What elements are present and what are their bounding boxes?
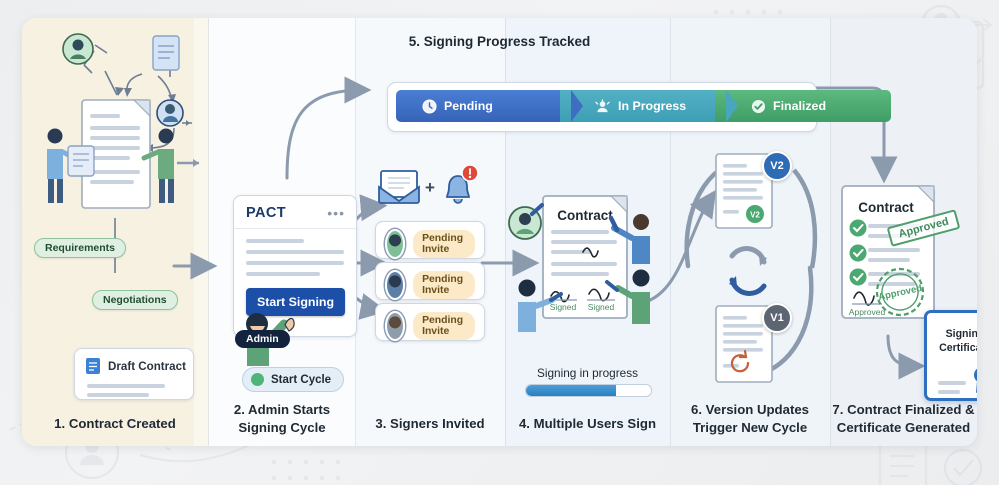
signing-progress-fill xyxy=(526,385,616,396)
placeholder-line xyxy=(246,239,304,243)
signer-row-2[interactable]: Pending Invite xyxy=(375,262,485,300)
placeholder-line xyxy=(246,272,320,276)
pipeline-stage-label: In Progress xyxy=(618,99,686,113)
contract-created-illustration xyxy=(22,18,208,398)
tag-requirements: Requirements xyxy=(34,238,126,258)
placeholder-line xyxy=(87,393,149,397)
step-6-caption: 6. Version Updates Trigger New Cycle xyxy=(670,401,830,438)
avatar xyxy=(385,270,405,300)
version-badge-v2: V2 xyxy=(762,151,792,181)
status-dot-icon xyxy=(251,373,264,386)
admin-label: Admin xyxy=(246,333,279,345)
version-cycle-illustration: V2 xyxy=(670,138,830,398)
people-icon xyxy=(594,99,611,114)
step-2-caption: 2. Admin Starts Signing Cycle xyxy=(209,401,355,438)
placeholder-line xyxy=(938,390,960,394)
approved-check-icon xyxy=(850,220,867,286)
step-7-caption: 7. Contract Finalized & Certificate Gene… xyxy=(830,401,977,438)
invite-icons: + xyxy=(375,163,485,219)
pipeline-stage-label: Finalized xyxy=(773,99,826,113)
signer-row-3[interactable]: Pending Invite xyxy=(375,303,485,341)
caption-line-1: 1. Contract Created xyxy=(54,416,176,431)
pipeline-stage-label: Pending xyxy=(444,99,493,113)
signing-progress-label: Signing in progress xyxy=(505,366,670,380)
tag-label: Requirements xyxy=(45,242,115,254)
caption-line-1: 2. Admin Starts xyxy=(234,402,330,417)
svg-text:Signed: Signed xyxy=(588,302,615,312)
step-1-caption: 1. Contract Created xyxy=(22,415,208,434)
avatar xyxy=(385,229,405,259)
placeholder-line xyxy=(246,261,344,265)
bell-alert-icon xyxy=(447,165,478,203)
avatar xyxy=(385,311,405,341)
svg-text:Signed: Signed xyxy=(550,302,577,312)
envelope-icon xyxy=(379,171,419,203)
step-4-caption: 4. Multiple Users Sign xyxy=(505,415,670,434)
placeholder-line xyxy=(87,384,165,388)
ellipsis-icon[interactable]: ••• xyxy=(327,209,345,217)
certificate-line-2: Certificate xyxy=(939,342,977,354)
caption-line-1: 3. Signers Invited xyxy=(375,416,484,431)
svg-text:V2: V2 xyxy=(750,211,760,220)
version-label: V2 xyxy=(770,160,783,172)
step-3-caption: 3. Signers Invited xyxy=(355,415,505,434)
step-3-signers-invited: + Pending Invite Pending Invite xyxy=(355,18,505,446)
refresh-cycle-icon xyxy=(729,249,767,294)
caption-line-1: 6. Version Updates xyxy=(691,402,809,417)
caption-line-1: 7. Contract Finalized & xyxy=(832,402,974,417)
certificate-line-1: Signing xyxy=(946,328,977,340)
start-cycle-label: Start Cycle xyxy=(271,374,331,386)
status-badge: Pending Invite xyxy=(413,230,475,258)
step-2-admin-starts-signing: PACT ••• Start Signing Admin Start Cycle… xyxy=(209,18,355,446)
signer-row-1[interactable]: Pending Invite xyxy=(375,221,485,259)
caption-line-2: Trigger New Cycle xyxy=(693,420,807,435)
signing-progress-bar xyxy=(525,384,652,397)
clock-icon xyxy=(422,99,437,114)
admin-name-pill: Admin xyxy=(235,330,290,348)
tag-label: Negotiations xyxy=(103,294,167,306)
signing-certificate-card[interactable]: Signing Certificate xyxy=(924,310,977,401)
step-4-multiple-users-sign: Contract Signed Signed xyxy=(505,18,670,446)
document-title: Contract xyxy=(858,200,914,215)
step-7-contract-finalized: Contract Approved Approved xyxy=(830,18,977,446)
status-badge: Pending Invite xyxy=(413,271,475,299)
svg-text:Approved: Approved xyxy=(849,307,886,317)
draft-contract-card[interactable]: Draft Contract xyxy=(74,348,194,400)
step-6-version-updates: V2 V2 xyxy=(670,18,830,446)
tag-negotiations: Negotiations xyxy=(92,290,178,310)
app-title: PACT xyxy=(246,205,286,221)
caption-line-1: 4. Multiple Users Sign xyxy=(519,416,656,431)
placeholder-line xyxy=(938,381,966,385)
caption-line-2: Certificate Generated xyxy=(837,420,970,435)
placeholder-line xyxy=(246,250,344,254)
status-badge: Pending Invite xyxy=(413,312,475,340)
svg-text:+: + xyxy=(425,178,435,197)
ribbon-seal-icon xyxy=(972,366,977,394)
version-label: V1 xyxy=(770,312,783,324)
version-badge-v1: V1 xyxy=(762,303,792,333)
document-icon xyxy=(85,357,101,375)
start-cycle-status-pill[interactable]: Start Cycle xyxy=(242,367,344,392)
draft-contract-label: Draft Contract xyxy=(108,360,186,373)
caption-line-2: Signing Cycle xyxy=(238,420,325,435)
diagram-canvas: 5. Signing Progress Tracked Pending xyxy=(22,18,977,446)
step-1-contract-created: Requirements Negotiations Draft Contract… xyxy=(22,18,208,446)
check-circle-icon xyxy=(751,99,766,114)
document-title: Contract xyxy=(557,208,613,223)
